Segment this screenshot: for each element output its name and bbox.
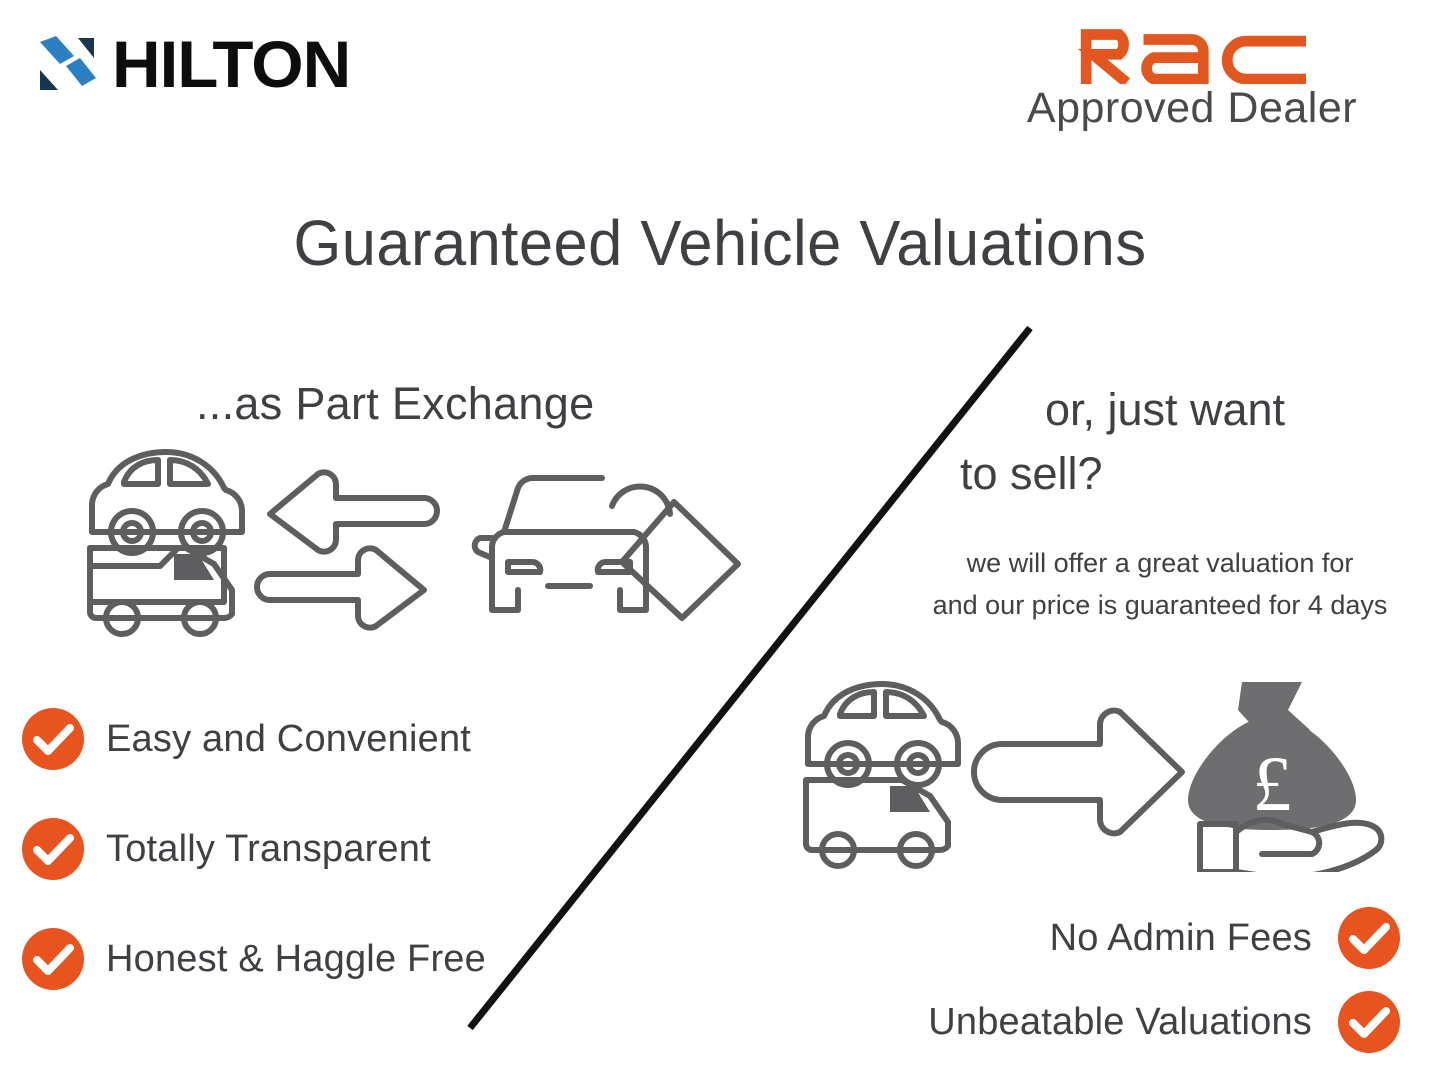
list-item: Honest & Haggle Free: [22, 904, 542, 1014]
car-side-icon: [808, 684, 958, 785]
arrow-right-outline-icon: [257, 548, 424, 627]
rac-approved-dealer-block: Approved Dealer: [992, 18, 1392, 131]
check-circle-icon: [22, 818, 84, 880]
right-subtext-line-2: and our price is guaranteed for 4 days: [910, 585, 1410, 627]
right-subtext-line-1: we will offer a great valuation for: [910, 543, 1410, 585]
van-side-icon: [806, 780, 948, 866]
check-circle-icon: [22, 928, 84, 990]
svg-text:£: £: [1253, 740, 1292, 827]
check-circle-icon: [1338, 991, 1400, 1053]
rac-logo-icon: [1068, 18, 1316, 84]
money-bag-pound-icon: £: [1188, 682, 1356, 830]
page-title: Guaranteed Vehicle Valuations: [29, 206, 1411, 280]
hilton-logo: HILTON: [34, 28, 346, 100]
left-illustration-group: [74, 440, 774, 640]
list-item: Easy and Convenient: [22, 684, 542, 794]
list-item: No Admin Fees: [830, 896, 1400, 980]
rac-approved-dealer-text: Approved Dealer: [992, 86, 1392, 131]
right-column-heading: or, just want to sell?: [930, 378, 1400, 506]
list-item-label: Unbeatable Valuations: [928, 1001, 1312, 1044]
open-hand-icon: [1200, 820, 1381, 872]
left-column-heading: ...as Part Exchange: [196, 378, 594, 430]
right-column-subtext: we will offer a great valuation for and …: [910, 543, 1410, 627]
check-circle-icon: [1338, 907, 1400, 969]
right-benefits-list: No Admin Fees Unbeatable Valuations: [830, 896, 1400, 1064]
left-benefits-list: Easy and Convenient Totally Transparent …: [22, 684, 542, 1014]
right-illustration-group: £: [790, 672, 1410, 872]
list-item-label: No Admin Fees: [1050, 917, 1312, 960]
list-item-label: Totally Transparent: [106, 828, 431, 871]
car-side-icon: [92, 452, 242, 553]
list-item: Unbeatable Valuations: [830, 980, 1400, 1064]
arrow-right-large-outline-icon: [974, 711, 1182, 834]
list-item-label: Easy and Convenient: [106, 718, 471, 761]
hilton-wordmark: HILTON: [112, 31, 350, 97]
right-heading-line-1: or, just want: [930, 378, 1400, 442]
arrow-left-outline-icon: [270, 472, 437, 551]
right-heading-line-2: to sell?: [930, 442, 1400, 506]
poster-canvas: HILTON Approved Dealer Guaranteed Vehicl…: [0, 0, 1440, 1080]
list-item-label: Honest & Haggle Free: [106, 938, 486, 981]
check-circle-icon: [22, 708, 84, 770]
list-item: Totally Transparent: [22, 794, 542, 904]
van-side-icon: [90, 548, 232, 634]
car-front-with-price-tag-icon: [475, 478, 738, 618]
hilton-x-mark-icon: [34, 28, 106, 100]
